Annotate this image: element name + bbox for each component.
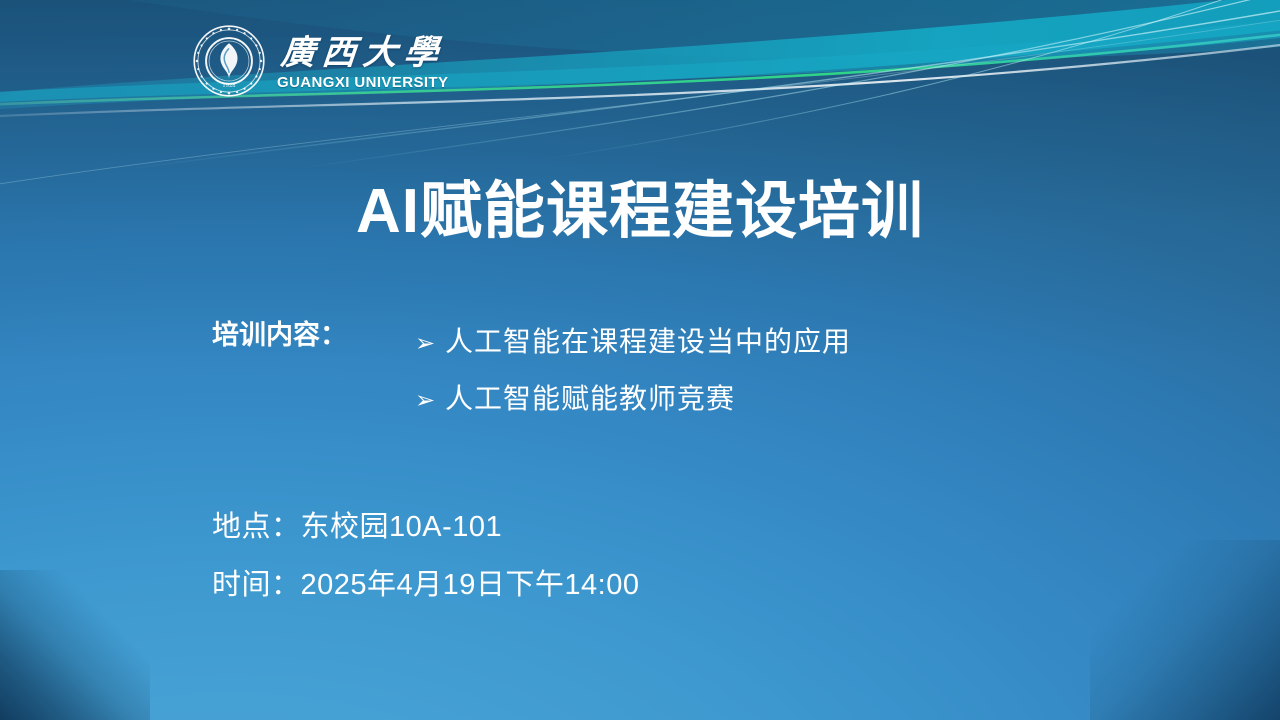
- bottom-right-corner-shade: [1090, 540, 1280, 720]
- logo-name-cn: 廣西大學: [279, 33, 446, 73]
- list-item-label: 人工智能在课程建设当中的应用: [445, 314, 851, 370]
- event-time: 时间：2025年4月19日下午14:00: [212, 556, 639, 614]
- training-content-row: 培训内容： ➢ 人工智能在课程建设当中的应用 ➢ 人工智能赋能教师竞赛: [212, 314, 1112, 428]
- presentation-slide: 1928 廣西大學 GUANGXI UNIVERSITY AI赋能课程建设培训 …: [0, 0, 1280, 720]
- list-item-label: 人工智能赋能教师竞赛: [445, 371, 735, 427]
- event-location: 地点：东校园10A-101: [212, 498, 639, 556]
- slide-title: AI赋能课程建设培训: [0, 174, 1280, 250]
- svg-text:1928: 1928: [222, 83, 235, 89]
- bottom-left-corner-shade: [0, 570, 150, 720]
- logo-wordmark: 廣西大學 GUANGXI UNIVERSITY: [277, 31, 448, 92]
- list-item: ➢ 人工智能赋能教师竞赛: [415, 371, 851, 428]
- training-content-block: 培训内容： ➢ 人工智能在课程建设当中的应用 ➢ 人工智能赋能教师竞赛: [212, 314, 1112, 428]
- university-seal-icon: 1928: [192, 24, 266, 98]
- arrow-bullet-icon: ➢: [415, 315, 445, 371]
- training-content-list: ➢ 人工智能在课程建设当中的应用 ➢ 人工智能赋能教师竞赛: [415, 314, 851, 428]
- training-content-label: 培训内容：: [212, 314, 415, 356]
- list-item: ➢ 人工智能在课程建设当中的应用: [415, 314, 851, 371]
- arrow-bullet-icon: ➢: [415, 372, 445, 428]
- logo-name-en: GUANGXI UNIVERSITY: [277, 73, 448, 92]
- university-logo: 1928 廣西大學 GUANGXI UNIVERSITY: [192, 24, 448, 98]
- event-details-block: 地点：东校园10A-101 时间：2025年4月19日下午14:00: [212, 498, 639, 614]
